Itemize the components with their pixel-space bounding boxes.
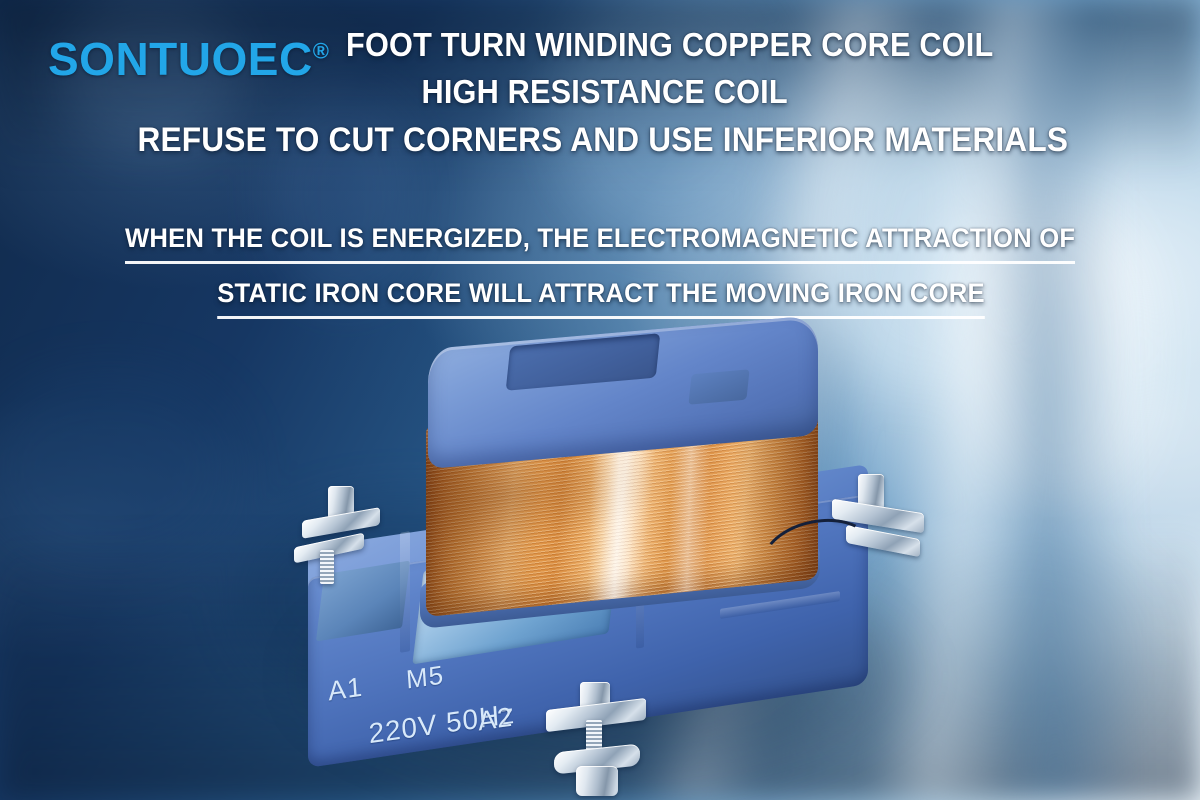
product-banner: SONTUOEC® FOOT TURN WINDING COPPER CORE … [0,0,1200,800]
label-terminal-a1: A1 [327,672,364,708]
brand-name: SONTUOEC [48,33,313,85]
label-terminal-a2: A2 [477,702,514,738]
label-model-m5: M5 [405,659,445,695]
product-image: A1 M5 220V 50Hz A2 [250,300,970,800]
brand-logo: SONTUOEC® [48,36,329,82]
bobbin-top-recess-secondary [688,369,749,404]
coil-frame-rib-1 [400,531,410,652]
terminal-nut-bottom [576,766,618,796]
terminal-thread-left [320,550,334,584]
registered-trademark-icon: ® [313,39,330,64]
